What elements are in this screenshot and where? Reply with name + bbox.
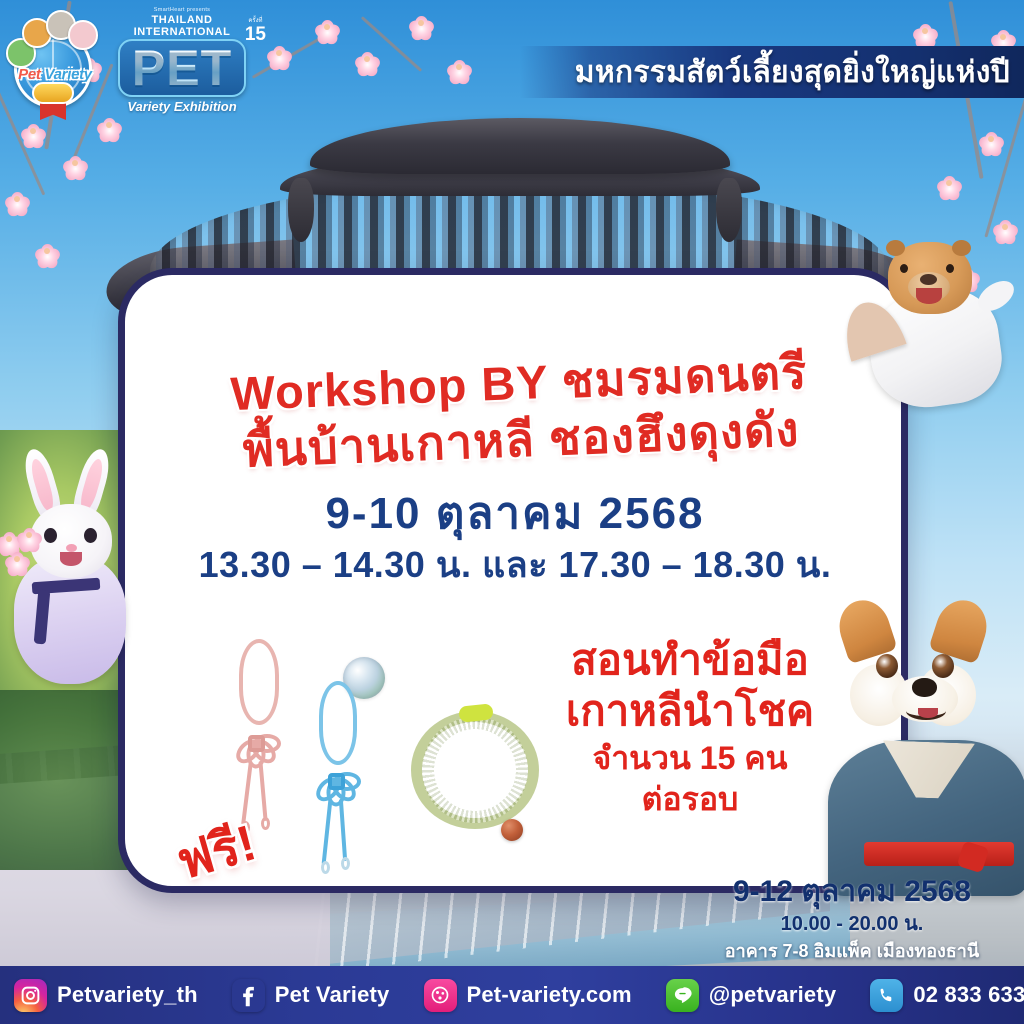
edition-number: 15 (245, 25, 266, 44)
capybara-mascot (848, 228, 1018, 408)
rabbit-holding-blossom (0, 522, 48, 576)
pet-logotype: PET (118, 39, 246, 97)
workshop-headline: Workshop BY ชมรมดนตรี พื้นบ้านเกาหลี ชอง… (163, 341, 877, 482)
edition-badge: ครั้งที่ 15 (245, 18, 266, 44)
workshop-date: 9-10 ตุลาคม 2568 (155, 487, 875, 541)
workshop-schedule: 9-10 ตุลาคม 2568 13.30 – 14.30 น. และ 17… (155, 487, 875, 589)
brand-subtitle: Variety Exhibition (106, 99, 258, 114)
rabbit-mascot (0, 452, 146, 700)
social-item-facebook[interactable]: Pet Variety (232, 979, 390, 1012)
social-media-bar: Petvariety_th Pet Variety Pet-variety.co… (0, 966, 1024, 1024)
logo-word-pet: Pet (18, 66, 40, 83)
bracelet-bell (501, 819, 523, 841)
edition-label: ครั้งที่ (245, 18, 266, 25)
rabbit-head-icon (68, 20, 98, 50)
phone-number: 02 833 6331 (913, 982, 1024, 1008)
facebook-icon (232, 979, 265, 1012)
website-url: Pet-variety.com (467, 982, 632, 1008)
shiba-inu-mascot (820, 592, 1024, 892)
phone-icon (870, 979, 903, 1012)
instagram-handle: Petvariety_th (57, 982, 198, 1008)
event-info-block: 9-12 ตุลาคม 2568 10.00 - 20.00 น. อาคาร … (684, 874, 1024, 964)
event-tagline-banner: มหกรรมสัตว์เลี้ยงสุดยิ่งใหญ่แห่งปี (520, 46, 1024, 98)
pet-logotype-text: PET (132, 40, 232, 96)
content-card: Workshop BY ชมรมดนตรี พื้นบ้านเกาหลี ชอง… (118, 268, 908, 893)
roof-finial-right (716, 178, 742, 242)
pet-variety-logo: Pet Variety (6, 8, 102, 120)
event-time: 10.00 - 20.00 น. (684, 910, 1020, 938)
social-item-instagram[interactable]: Petvariety_th (14, 979, 198, 1012)
workshop-time: 13.30 – 14.30 น. และ 17.30 – 18.30 น. (155, 541, 875, 589)
roof-ridge-top (310, 118, 730, 174)
event-date: 9-12 ตุลาคม 2568 (684, 874, 1020, 910)
korean-knot-bracelets-image (215, 635, 535, 885)
social-item-phone[interactable]: 02 833 6331 (870, 979, 1024, 1012)
roof-finial-left (288, 178, 314, 242)
line-id: @petvariety (709, 982, 837, 1008)
line-icon (666, 979, 699, 1012)
website-icon (424, 979, 457, 1012)
pet-exhibition-logo: SmartHeart presents THAILAND INTERNATION… (106, 6, 258, 134)
presenter-label: SmartHeart presents (106, 6, 258, 14)
event-venue: อาคาร 7-8 อิมแพ็ค เมืองทองธานี (684, 938, 1020, 964)
poster: Workshop BY ชมรมดนตรี พื้นบ้านเกาหลี ชอง… (0, 0, 1024, 1024)
award-medal-icon (32, 82, 74, 104)
facebook-page-name: Pet Variety (275, 982, 390, 1008)
brand-line-thailand: THAILAND (106, 14, 258, 26)
instagram-icon (14, 979, 47, 1012)
event-tagline: มหกรรมสัตว์เลี้ยงสุดยิ่งใหญ่แห่งปี (575, 49, 1010, 96)
brand-line-international: INTERNATIONAL (106, 26, 258, 38)
social-item-website[interactable]: Pet-variety.com (424, 979, 632, 1012)
logo-word-variety: Variety (44, 66, 91, 83)
pet-variety-wordmark: Pet Variety (10, 66, 100, 83)
social-item-line[interactable]: @petvariety (666, 979, 837, 1012)
